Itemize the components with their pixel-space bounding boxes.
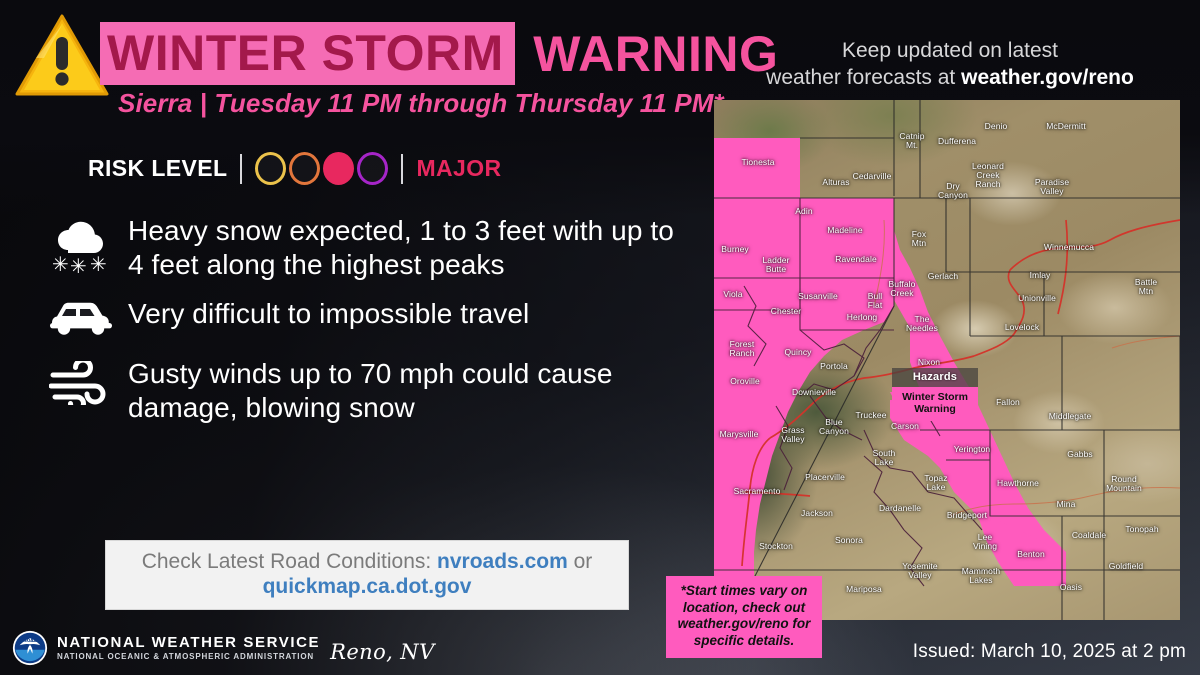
keep-updated-note: Keep updated on latest weather forecasts… xyxy=(700,38,1200,92)
map-legend-title: Hazards xyxy=(892,368,978,387)
bullet-wind: Gusty winds up to 70 mph could cause dam… xyxy=(36,357,676,424)
hazard-map[interactable]: TionestaCatnip Mt.DufferenaDenioMcDermit… xyxy=(714,100,1180,620)
warning-triangle-icon xyxy=(14,11,110,99)
headline-highlight-text: WINTER STORM xyxy=(107,24,504,82)
divider-left xyxy=(240,154,242,184)
bullet-travel: Very difficult to impossible travel xyxy=(36,297,676,335)
noaa-seal-icon: NOAA xyxy=(12,630,48,666)
noaa-agency-name: NATIONAL OCEANIC & ATMOSPHERIC ADMINISTR… xyxy=(57,651,320,662)
nvroads-link[interactable]: nvroads.com xyxy=(437,550,568,573)
nws-agency-name: NATIONAL WEATHER SERVICE xyxy=(57,635,320,651)
quickmap-link[interactable]: quickmap.ca.dot.gov xyxy=(263,575,472,598)
bullet-wind-text: Gusty winds up to 70 mph could cause dam… xyxy=(128,357,676,424)
svg-text:NOAA: NOAA xyxy=(23,638,37,643)
risk-dot-major xyxy=(323,152,354,185)
issued-timestamp: Issued: March 10, 2025 at 2 pm xyxy=(913,641,1186,663)
headline-highlight: WINTER STORM xyxy=(100,22,515,85)
start-times-footnote: *Start times vary on location, check out… xyxy=(666,576,822,658)
risk-level-row: RISK LEVEL MAJOR xyxy=(88,152,502,185)
snow-cloud-icon: ✳✳✳ xyxy=(36,214,128,274)
risk-dot-minor xyxy=(255,152,286,185)
wind-icon xyxy=(36,357,128,405)
road-conditions-line-1: Check Latest Road Conditions: nvroads.co… xyxy=(142,550,593,575)
road-conditions-or: or xyxy=(568,550,593,573)
road-conditions-lead: Check Latest Road Conditions: xyxy=(142,550,437,573)
keep-updated-line1: Keep updated on latest xyxy=(842,39,1058,62)
svg-text:✳: ✳ xyxy=(70,254,87,274)
risk-level-label: RISK LEVEL xyxy=(88,155,227,182)
road-conditions-line-2: quickmap.ca.dot.gov xyxy=(263,575,472,600)
map-boundaries xyxy=(714,100,1180,620)
headline-row: WINTER STORM WARNING xyxy=(100,22,778,84)
bullet-travel-text: Very difficult to impossible travel xyxy=(128,297,529,331)
road-conditions-box: Check Latest Road Conditions: nvroads.co… xyxy=(105,540,629,610)
weather-gov-url[interactable]: weather.gov/reno xyxy=(961,66,1134,89)
header: WINTER STORM WARNING Sierra | Tuesday 11… xyxy=(0,0,700,205)
keep-updated-line2: weather forecasts at xyxy=(766,66,961,89)
nws-office-name: Reno, NV xyxy=(330,632,435,664)
map-legend-item-winter-storm-warning: Winter Storm Warning xyxy=(892,387,978,421)
map-legend: Hazards Winter Storm Warning xyxy=(892,368,978,421)
bullet-snow: ✳✳✳ Heavy snow expected, 1 to 3 feet wit… xyxy=(36,214,676,281)
bullet-snow-text: Heavy snow expected, 1 to 3 feet with up… xyxy=(128,214,676,281)
nws-branding: NOAA NATIONAL WEATHER SERVICE NATIONAL O… xyxy=(12,630,435,666)
svg-text:✳: ✳ xyxy=(90,252,107,274)
divider-right xyxy=(401,154,403,184)
svg-text:✳: ✳ xyxy=(52,252,69,274)
impact-bullet-list: ✳✳✳ Heavy snow expected, 1 to 3 feet wit… xyxy=(36,214,676,438)
headline-subtitle: Sierra | Tuesday 11 PM through Thursday … xyxy=(118,88,724,119)
risk-level-value: MAJOR xyxy=(416,155,501,182)
nws-text-block: NATIONAL WEATHER SERVICE NATIONAL OCEANI… xyxy=(57,635,320,662)
risk-dot-extreme xyxy=(357,152,388,185)
car-icon xyxy=(36,297,128,335)
risk-level-dots xyxy=(255,152,388,185)
risk-dot-moderate xyxy=(289,152,320,185)
